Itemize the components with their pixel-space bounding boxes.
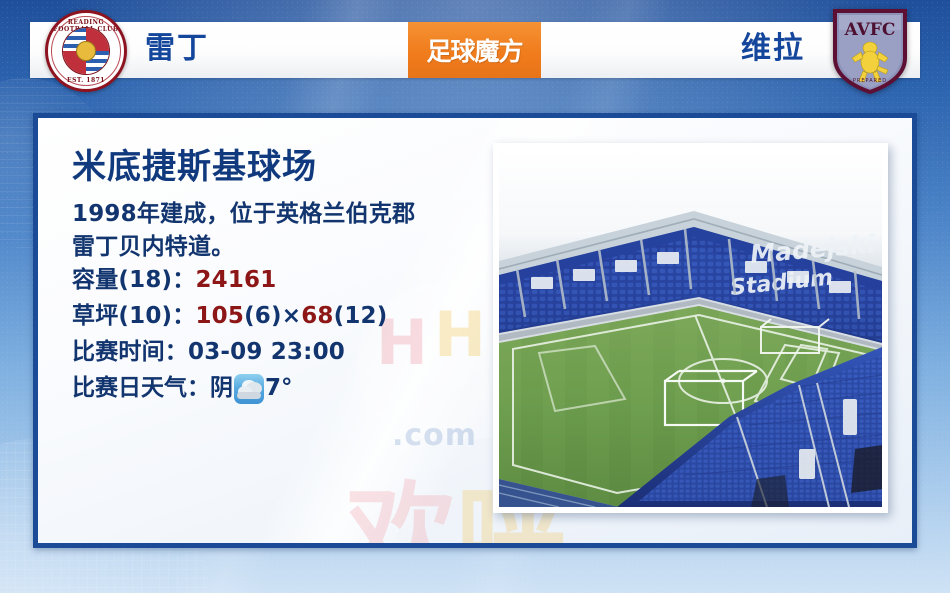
capacity-row: 容量(18)：24161 [72, 263, 492, 299]
crest-arc-bottom-text: EST. 1871 [48, 77, 124, 84]
match-time-value: 03-09 23:00 [188, 339, 345, 365]
pitch-size-row: 草坪(10)：105(6)×68(12) [72, 299, 492, 335]
brand-logo[interactable]: 足球魔方 [408, 22, 541, 78]
match-weather-row: 比赛日天气：阴7° [72, 371, 492, 407]
stadium-photo-frame[interactable]: Madejski Stadium [493, 143, 888, 513]
stadium-description-line-2: 雷丁贝内特道。 [72, 231, 492, 264]
svg-text:PREPARED: PREPARED [853, 78, 887, 84]
capacity-value: 24161 [195, 267, 276, 293]
info-panel: H H .com 欢 呼 米底捷斯基球场 1998年建成，位于英格兰伯克郡 雷丁… [33, 113, 917, 548]
aston-villa-crest-icon: AVFC PREPARED [832, 8, 908, 94]
capacity-label: 容量(18)： [72, 267, 195, 293]
pitch-size-separator: × [282, 303, 301, 329]
away-team-name: 维拉 [741, 26, 805, 72]
weather-condition: 阴 [210, 371, 233, 407]
stadium-description-line-1: 1998年建成，位于英格兰伯克郡 [72, 198, 492, 231]
pitch-length-rank: (6) [244, 303, 282, 329]
match-time-label: 比赛时间： [72, 339, 188, 365]
pitch-length-value: 105 [195, 303, 244, 329]
cloudy-icon [234, 374, 264, 404]
match-time-row: 比赛时间：03-09 23:00 [72, 335, 492, 371]
crest-inner-shield [62, 27, 110, 75]
stadium-title: 米底捷斯基球场 [72, 148, 492, 186]
stadium-info-block: 米底捷斯基球场 1998年建成，位于英格兰伯克郡 雷丁贝内特道。 容量(18)：… [72, 148, 492, 407]
brand-logo-label: 足球魔方 [426, 32, 522, 68]
weather-temperature: 7° [265, 371, 293, 407]
watermark-domain: .com [392, 418, 477, 453]
pitch-width-value: 68 [301, 303, 333, 329]
pitch-label: 草坪(10)： [72, 303, 195, 329]
madejski-stadium-photo: Madejski Stadium [499, 149, 882, 507]
pitch-width-rank: (12) [334, 303, 388, 329]
match-header: READING FOOTBALL CLUB EST. 1871 雷丁 足球魔方 … [0, 0, 950, 100]
home-team-name: 雷丁 [145, 26, 209, 72]
watermark-char-1: 欢 [346, 480, 456, 548]
reading-fc-crest-icon: READING FOOTBALL CLUB EST. 1871 [45, 10, 127, 92]
svg-text:AVFC: AVFC [844, 20, 896, 40]
crest-center-hub [76, 41, 96, 61]
weather-label: 比赛日天气： [72, 371, 210, 407]
stadium-info-card: READING FOOTBALL CLUB EST. 1871 雷丁 足球魔方 … [0, 0, 950, 593]
